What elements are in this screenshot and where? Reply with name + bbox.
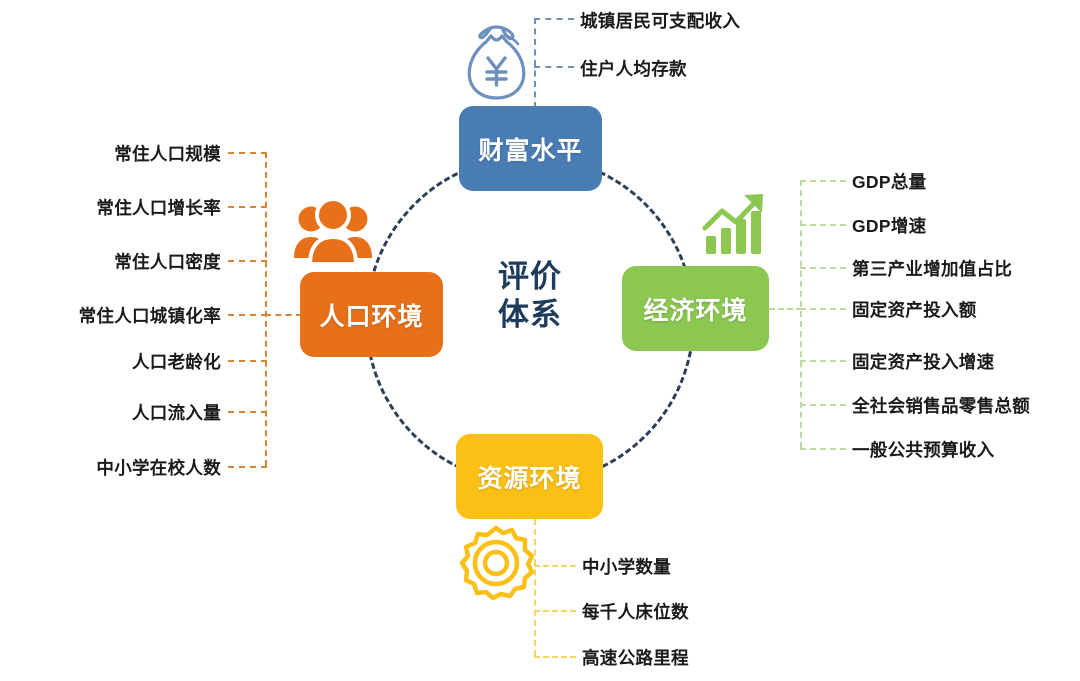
pillar-resource[interactable]: 资源环境	[456, 434, 603, 519]
evaluation-system-diagram: 评价 体系 财富水平 城镇居民可支配收入 住户人均存款	[0, 0, 1080, 681]
money-bag-icon	[460, 22, 536, 111]
pillar-economy[interactable]: 经济环境	[622, 266, 769, 351]
economy-item-2: 第三产业增加值占比	[852, 256, 1012, 281]
economy-item-3: 固定资产投入额	[852, 297, 977, 322]
people-item-0: 常住人口规模	[114, 141, 221, 166]
economy-connector-branch-3	[800, 308, 846, 310]
economy-connector-branch-5	[800, 404, 846, 406]
economy-connector-spine	[800, 180, 802, 448]
economy-item-4: 固定资产投入增速	[852, 349, 994, 374]
pillar-people-label: 人口环境	[319, 297, 423, 333]
economy-connector-branch-1	[800, 224, 846, 226]
people-item-6: 中小学在校人数	[96, 455, 221, 480]
wealth-connector-branch-1	[534, 66, 574, 68]
pillar-wealth-label: 财富水平	[478, 131, 582, 167]
people-connector-branch-5	[228, 411, 267, 413]
gear-icon	[458, 524, 534, 605]
people-connector-branch-0	[228, 152, 267, 154]
growth-chart-icon	[700, 188, 772, 265]
people-connector-branch-2	[228, 260, 267, 262]
people-item-2: 常住人口密度	[114, 249, 221, 274]
people-connector-branch-3	[228, 314, 267, 316]
people-item-5: 人口流入量	[132, 400, 221, 425]
people-connector-branch-6	[228, 466, 267, 468]
people-connector-branch-1	[228, 206, 267, 208]
economy-connector-branch-0	[800, 180, 846, 182]
economy-item-5: 全社会销售品零售总额	[852, 393, 1030, 418]
economy-connector-branch-4	[800, 360, 846, 362]
pillar-wealth[interactable]: 财富水平	[459, 106, 602, 191]
people-item-3: 常住人口城镇化率	[79, 303, 221, 328]
wealth-connector-branch-0	[534, 18, 574, 20]
economy-item-0: GDP总量	[852, 169, 926, 194]
pillar-economy-label: 经济环境	[643, 291, 747, 327]
economy-connector-branch-6	[800, 448, 846, 450]
resource-item-1: 每千人床位数	[582, 599, 689, 624]
center-title: 评价 体系	[455, 258, 605, 334]
people-connector-spine	[265, 152, 267, 466]
resource-item-0: 中小学数量	[582, 554, 671, 579]
resource-connector-branch-2	[534, 656, 576, 658]
resource-connector-branch-0	[534, 565, 576, 567]
center-title-line1: 评价	[455, 258, 605, 296]
wealth-item-1: 住户人均存款	[580, 56, 687, 81]
resource-connector-branch-1	[534, 610, 576, 612]
center-title-line2: 体系	[455, 296, 605, 334]
wealth-item-0: 城镇居民可支配收入	[580, 8, 740, 33]
pillar-people[interactable]: 人口环境	[300, 272, 443, 357]
economy-connector-stem	[769, 308, 802, 310]
people-group-icon	[292, 196, 374, 275]
people-item-4: 人口老龄化	[132, 349, 221, 374]
resource-connector-spine	[534, 519, 536, 656]
people-connector-stem	[265, 314, 302, 316]
resource-item-2: 高速公路里程	[582, 645, 689, 670]
economy-item-1: GDP增速	[852, 213, 926, 238]
economy-item-6: 一般公共预算收入	[852, 437, 994, 462]
people-item-1: 常住人口增长率	[96, 195, 221, 220]
people-connector-branch-4	[228, 360, 267, 362]
economy-connector-branch-2	[800, 267, 846, 269]
pillar-resource-label: 资源环境	[477, 459, 581, 495]
